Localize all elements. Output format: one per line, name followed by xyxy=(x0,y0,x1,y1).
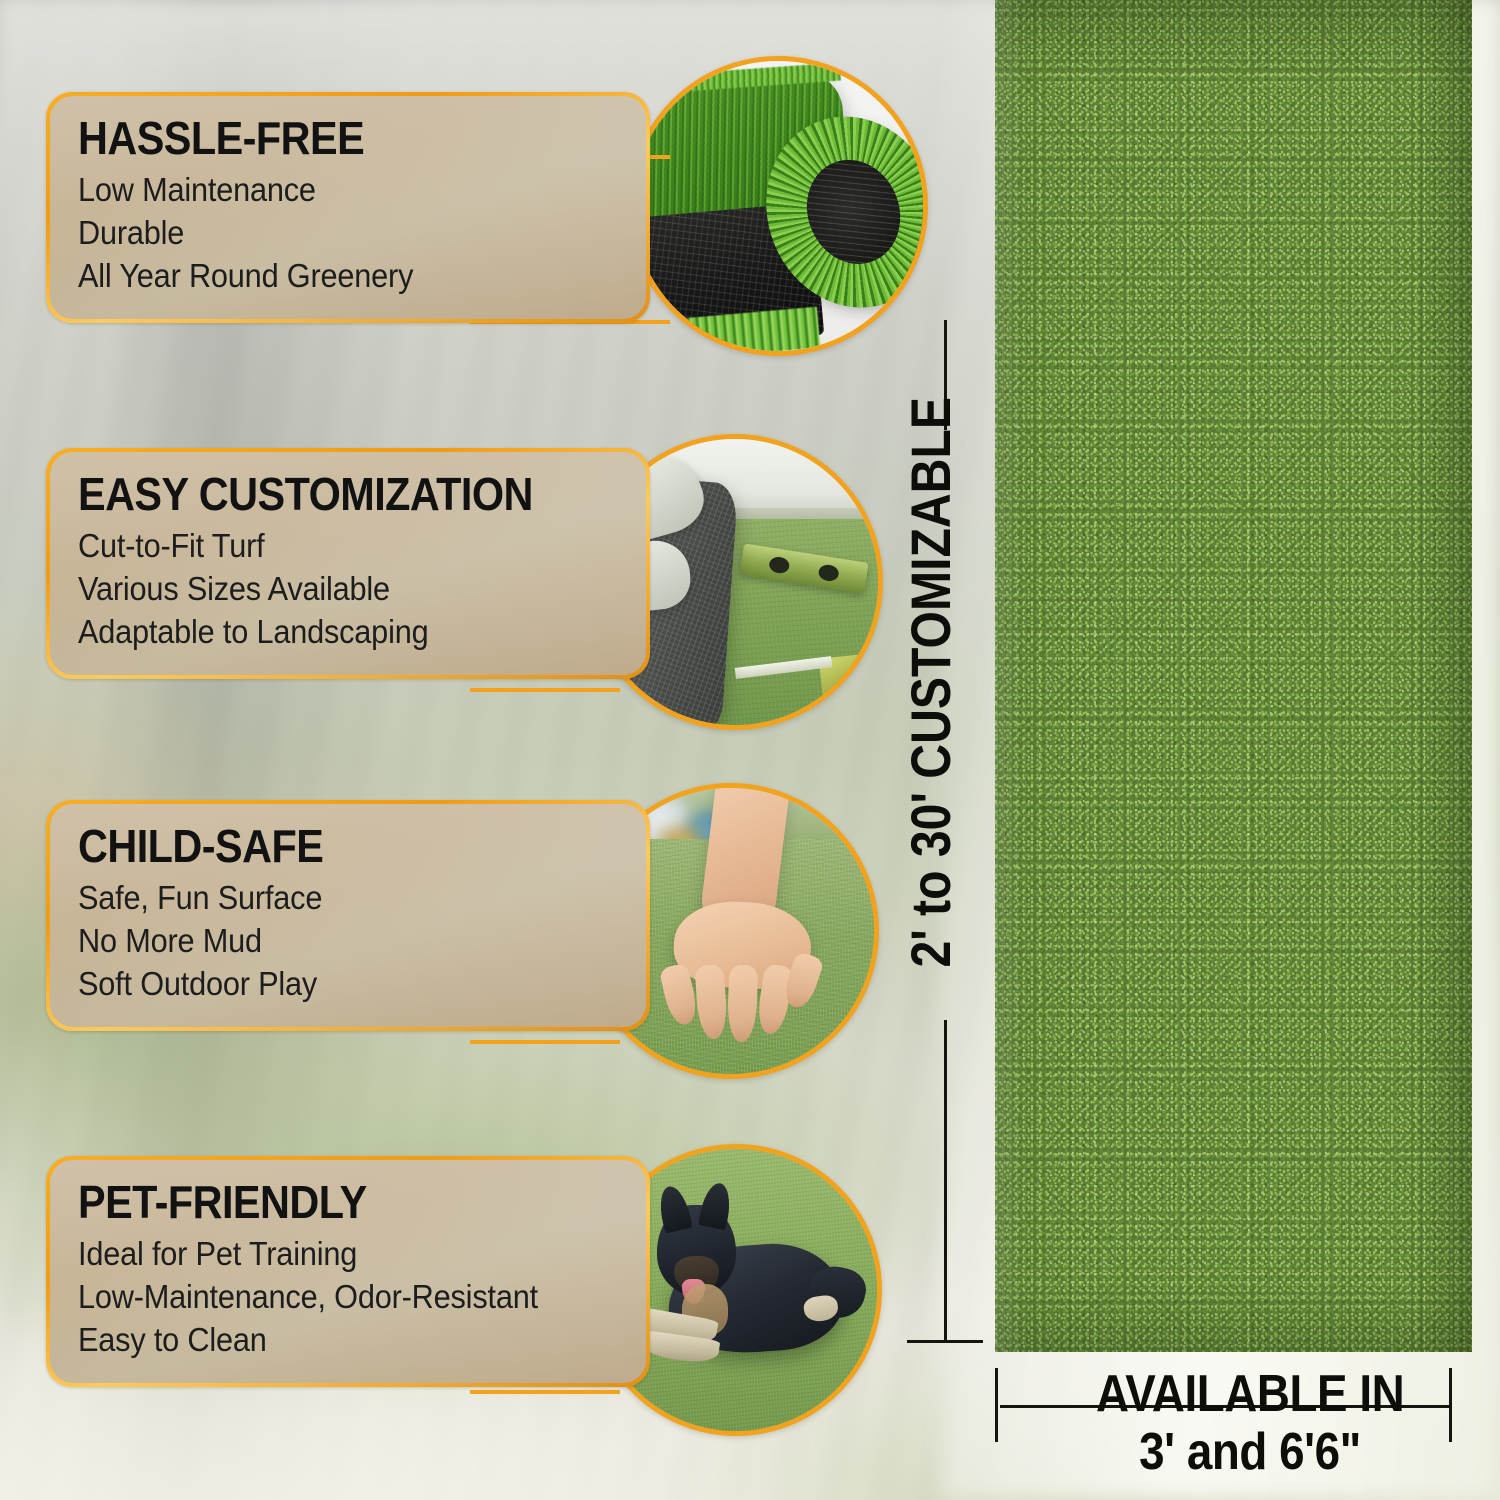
feature-title: CHILD-SAFE xyxy=(78,822,562,871)
infographic-canvas: HASSLE-FREE Low Maintenance Durable All … xyxy=(0,0,1500,1500)
width-dimension-endcap-left xyxy=(995,1368,998,1442)
feature-card-pet-friendly: PET-FRIENDLY Ideal for Pet Training Low-… xyxy=(46,1156,650,1387)
feature-bullet: Cut-to-Fit Turf xyxy=(78,525,578,568)
available-sizes-block: AVAILABLE IN 3' and 6'6" xyxy=(1050,1368,1450,1480)
rolled-turf-with-backing-photo xyxy=(628,56,928,356)
feature-bullet: Safe, Fun Surface xyxy=(78,877,578,920)
feature-title: PET-FRIENDLY xyxy=(78,1178,562,1227)
length-dimension-line-bottom xyxy=(944,1020,947,1340)
feature-bullet: No More Mud xyxy=(78,920,578,963)
feature-title: HASSLE-FREE xyxy=(78,114,562,163)
available-in-heading: AVAILABLE IN xyxy=(1050,1368,1450,1420)
available-sizes-values: 3' and 6'6" xyxy=(1050,1424,1450,1480)
connector-line-3 xyxy=(470,688,620,692)
feature-bullet: Various Sizes Available xyxy=(78,568,578,611)
feature-bullet: Low-Maintenance, Odor-Resistant xyxy=(78,1276,578,1319)
feature-card-easy-customization: EASY CUSTOMIZATION Cut-to-Fit Turf Vario… xyxy=(46,448,650,679)
feature-bullet: Low Maintenance xyxy=(78,169,578,212)
feature-title: EASY CUSTOMIZATION xyxy=(78,470,562,519)
length-dimension-text: 2' to 30' CUSTOMIZABLE xyxy=(898,397,963,968)
connector-line-7 xyxy=(470,1390,620,1394)
feature-bullet: Soft Outdoor Play xyxy=(78,963,578,1006)
feature-bullet: Adaptable to Landscaping xyxy=(78,611,578,654)
feature-bullet: All Year Round Greenery xyxy=(78,255,578,298)
available-sizes-text: 3' and 6'6" xyxy=(1139,1424,1361,1480)
feature-bullet: Durable xyxy=(78,212,578,255)
length-dimension-endcap xyxy=(907,1340,983,1343)
product-turf-strip xyxy=(995,0,1472,1352)
feature-card-child-safe: CHILD-SAFE Safe, Fun Surface No More Mud… xyxy=(46,800,650,1031)
length-dimension-label: 2' to 30' CUSTOMIZABLE xyxy=(891,352,969,1012)
connector-line-5 xyxy=(470,1040,620,1044)
feature-bullet: Ideal for Pet Training xyxy=(78,1233,578,1276)
feature-card-hassle-free: HASSLE-FREE Low Maintenance Durable All … xyxy=(46,92,650,323)
available-in-text: AVAILABLE IN xyxy=(1096,1368,1404,1420)
feature-bullet: Easy to Clean xyxy=(78,1319,578,1362)
